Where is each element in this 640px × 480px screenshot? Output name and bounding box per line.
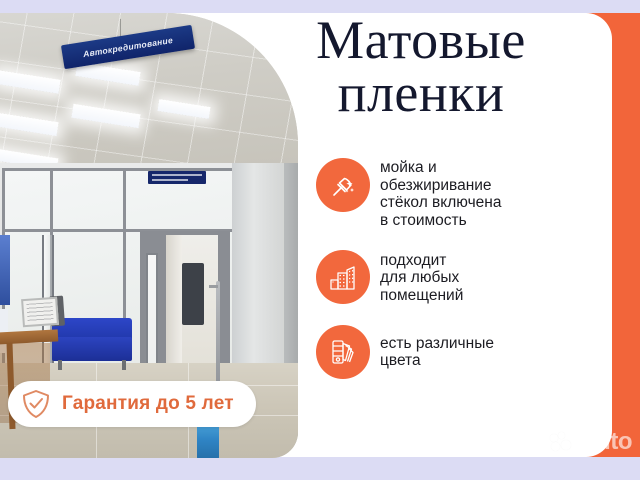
- page-title-line-1: Матовые: [256, 14, 586, 67]
- feature-text: подходит для любых помещений: [380, 248, 463, 305]
- guarantee-badge: Гарантия до 5 лет: [8, 381, 256, 427]
- sign-suspension-rod: [120, 19, 121, 37]
- feature-text: мойка и обезжиривание стёкол включена в …: [380, 158, 501, 230]
- wall-panel: [0, 235, 10, 305]
- feature-text: есть различные цвета: [380, 323, 494, 370]
- desk-monitor: [21, 297, 59, 327]
- page-title-line-2: пленки: [256, 67, 586, 120]
- department-sign: [148, 171, 206, 184]
- squeegee-sparkle-icon: [316, 158, 370, 212]
- blue-sofa: [52, 318, 132, 370]
- guarantee-badge-label: Гарантия до 5 лет: [62, 393, 234, 415]
- buildings-icon: [316, 250, 370, 304]
- advertisement-banner: Автокредитование: [0, 0, 640, 480]
- feature-item: мойка и обезжиривание стёкол включена в …: [316, 158, 586, 230]
- page-title: Матовые пленки: [256, 14, 586, 120]
- feature-item: подходит для любых помещений: [316, 248, 586, 305]
- color-fan-deck-icon: [316, 325, 370, 379]
- corridor-object: [182, 263, 204, 325]
- feature-item: есть различные цвета: [316, 323, 586, 379]
- letterbox-bar-bottom: [0, 457, 640, 480]
- feature-list: мойка и обезжиривание стёкол включена в …: [316, 158, 586, 397]
- shield-check-icon: [20, 388, 52, 420]
